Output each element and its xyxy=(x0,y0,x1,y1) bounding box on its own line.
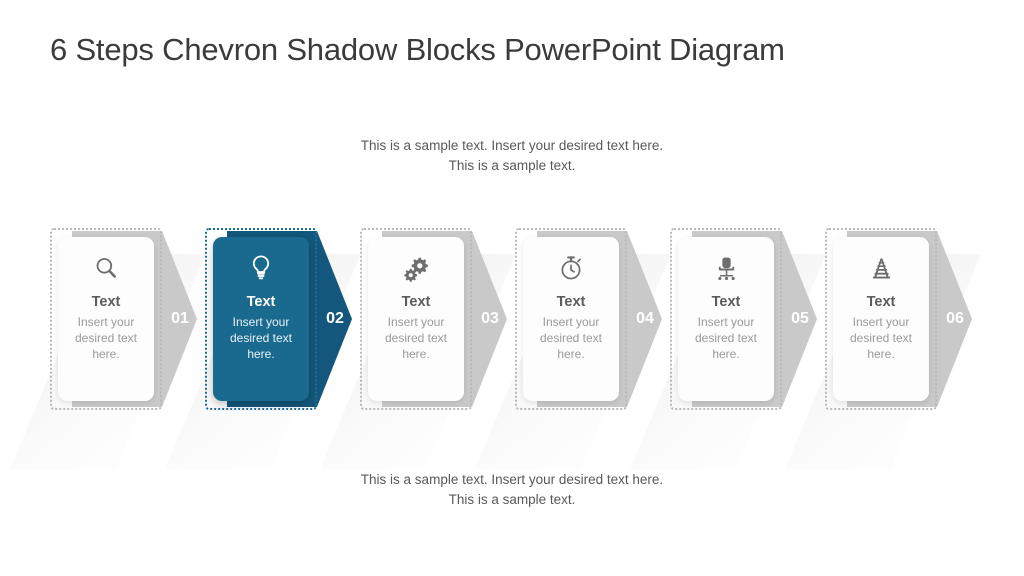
gears-icon xyxy=(401,253,431,283)
step-number: 01 xyxy=(162,228,198,410)
steps-row: TextInsert your desired text here.01Text… xyxy=(0,228,1024,428)
step-body-text: Insert your desired text here. xyxy=(527,314,615,363)
step-heading: Text xyxy=(92,294,121,310)
step-block-03[interactable]: TextInsert your desired text here.03 xyxy=(360,228,508,410)
step-block-06[interactable]: TextInsert your desired text here.06 xyxy=(825,228,973,410)
step-body-text: Insert your desired text here. xyxy=(837,314,925,363)
step-card[interactable]: TextInsert your desired text here. xyxy=(833,237,929,401)
step-body-text: Insert your desired text here. xyxy=(62,314,150,363)
step-heading: Text xyxy=(402,294,431,310)
step-card[interactable]: TextInsert your desired text here. xyxy=(678,237,774,401)
step-body-text: Insert your desired text here. xyxy=(217,314,305,363)
step-card[interactable]: TextInsert your desired text here. xyxy=(523,237,619,401)
magnifier-icon xyxy=(91,253,121,283)
office-chair-icon xyxy=(711,253,741,283)
slide-canvas: 6 Steps Chevron Shadow Blocks PowerPoint… xyxy=(0,0,1024,576)
railroad-icon xyxy=(866,253,896,283)
step-heading: Text xyxy=(712,294,741,310)
page-title: 6 Steps Chevron Shadow Blocks PowerPoint… xyxy=(50,32,785,68)
step-block-02[interactable]: TextInsert your desired text here.02 xyxy=(205,228,353,410)
step-number: 06 xyxy=(937,228,973,410)
step-block-04[interactable]: TextInsert your desired text here.04 xyxy=(515,228,663,410)
step-heading: Text xyxy=(557,294,586,310)
step-number: 03 xyxy=(472,228,508,410)
step-number: 05 xyxy=(782,228,818,410)
step-body-text: Insert your desired text here. xyxy=(682,314,770,363)
caption-bottom: This is a sample text. Insert your desir… xyxy=(352,470,672,509)
step-heading: Text xyxy=(867,294,896,310)
step-block-01[interactable]: TextInsert your desired text here.01 xyxy=(50,228,198,410)
stopwatch-icon xyxy=(556,253,586,283)
step-number: 02 xyxy=(317,228,353,410)
caption-top: This is a sample text. Insert your desir… xyxy=(352,136,672,175)
step-block-05[interactable]: TextInsert your desired text here.05 xyxy=(670,228,818,410)
step-number: 04 xyxy=(627,228,663,410)
step-card[interactable]: TextInsert your desired text here. xyxy=(213,237,309,401)
step-body-text: Insert your desired text here. xyxy=(372,314,460,363)
step-card[interactable]: TextInsert your desired text here. xyxy=(58,237,154,401)
step-heading: Text xyxy=(247,294,276,310)
lightbulb-icon xyxy=(246,253,276,283)
step-card[interactable]: TextInsert your desired text here. xyxy=(368,237,464,401)
